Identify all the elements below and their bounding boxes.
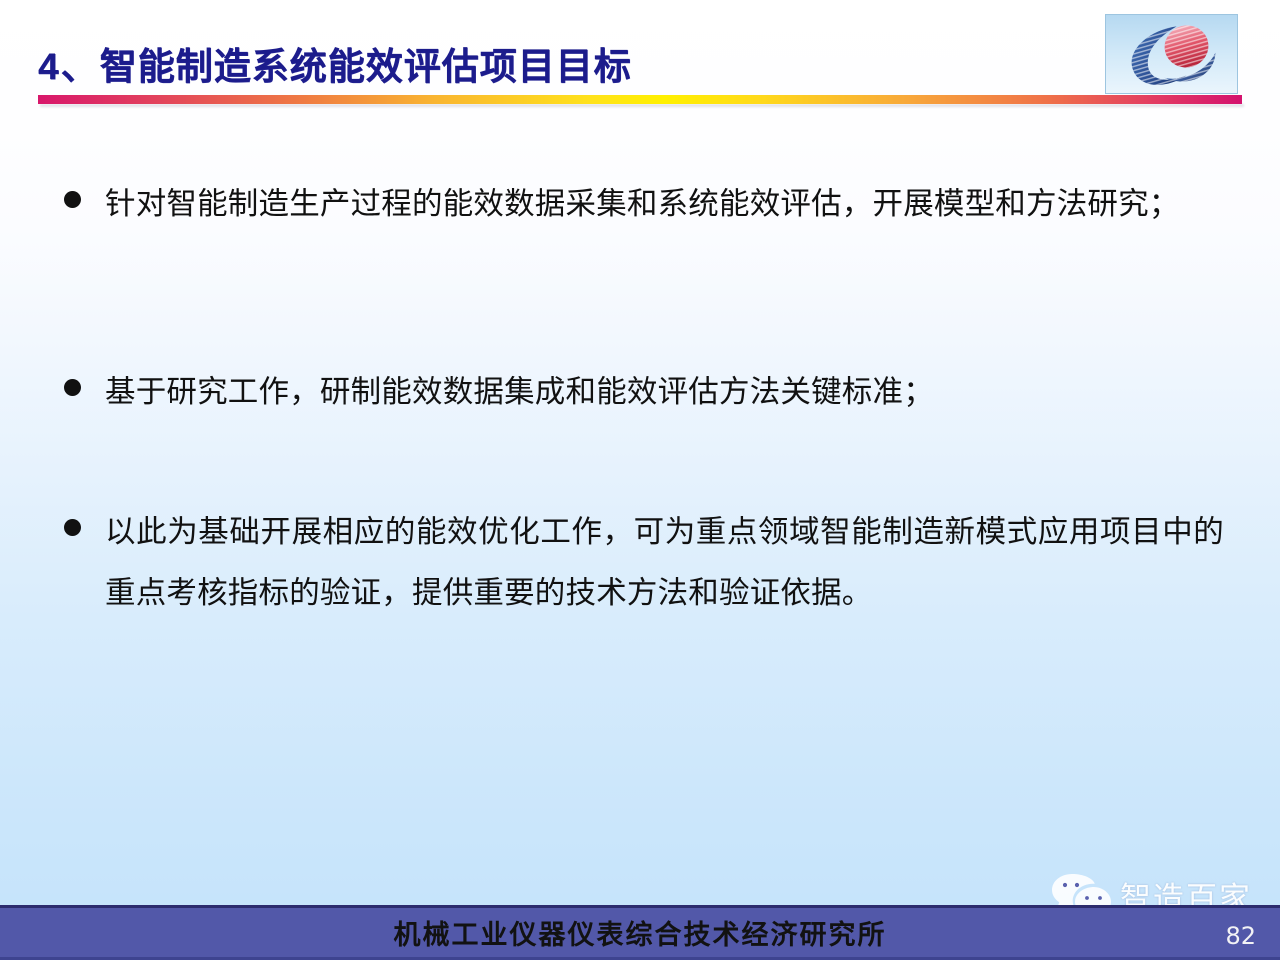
slide-header: 4、智能制造系统能效评估项目目标: [0, 0, 1280, 112]
bullet-item: 以此为基础开展相应的能效优化工作，可为重点领域智能制造新模式应用项目中的重点考核…: [64, 502, 1224, 624]
bullet-item: 基于研究工作，研制能效数据集成和能效评估方法关键标准；: [64, 362, 1224, 423]
title-rule: [38, 95, 1242, 104]
bullet-text: 基于研究工作，研制能效数据集成和能效评估方法关键标准；: [105, 362, 1224, 423]
logo-artwork: [1106, 15, 1237, 93]
bullet-marker-icon: [64, 519, 81, 536]
page-title: 4、智能制造系统能效评估项目目标: [38, 36, 632, 90]
bullet-marker-icon: [64, 191, 81, 208]
page-title-text: 智能制造系统能效评估项目目标: [100, 46, 632, 87]
footer-organization: 机械工业仪器仪表综合技术经济研究所: [0, 913, 1280, 952]
bullet-text: 以此为基础开展相应的能效优化工作，可为重点领域智能制造新模式应用项目中的重点考核…: [105, 502, 1224, 624]
page-title-number: 4、: [38, 46, 100, 87]
institute-logo: [1105, 14, 1238, 94]
slide-canvas: 4、智能制造系统能效评估项目目标: [0, 0, 1280, 960]
slide-body: 针对智能制造生产过程的能效数据采集和系统能效评估，开展模型和方法研究； 基于研究…: [0, 112, 1280, 902]
bullet-item: 针对智能制造生产过程的能效数据采集和系统能效评估，开展模型和方法研究；: [64, 174, 1224, 235]
page-number: 82: [1225, 922, 1256, 950]
bullet-marker-icon: [64, 379, 81, 396]
title-rule-shadow: [40, 104, 1244, 107]
bullet-text: 针对智能制造生产过程的能效数据采集和系统能效评估，开展模型和方法研究；: [105, 174, 1224, 235]
